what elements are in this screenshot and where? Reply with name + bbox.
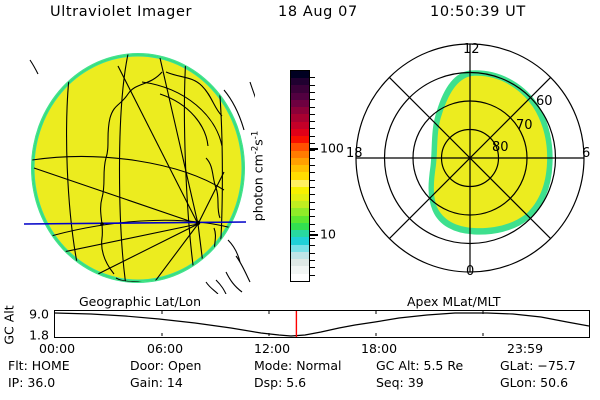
colorbar-minor-tick xyxy=(310,253,315,254)
colorbar-minor-tick xyxy=(310,92,315,93)
colorbar-segment xyxy=(291,136,309,143)
xtick-3: 18:00 xyxy=(361,341,397,356)
status-flight: Flt: HOME xyxy=(8,358,70,373)
globe-overlay-graticule xyxy=(10,42,255,294)
status-row-2: IP: 36.0 Gain: 14 Dsp: 5.6 Seq: 39 GLon:… xyxy=(8,375,600,392)
colorbar-minor-tick xyxy=(310,77,315,78)
colorbar-segment xyxy=(291,172,309,179)
colorbar-minor-tick xyxy=(310,128,315,129)
colorbar-minor-tick xyxy=(310,224,315,225)
xtick-2: 12:00 xyxy=(254,341,290,356)
mlt-label-0: 0 xyxy=(466,264,474,279)
colorbar-minor-tick xyxy=(310,187,315,188)
mlt-label-18: 18 xyxy=(346,146,363,161)
colorbar-major-tick xyxy=(310,148,318,149)
colorbar-segment xyxy=(291,107,309,114)
status-glon: GLon: 50.6 xyxy=(500,375,568,390)
page-title: Ultraviolet Imager xyxy=(50,4,192,20)
status-dsp: Dsp: 5.6 xyxy=(254,375,306,390)
colorbar-segment xyxy=(291,71,309,78)
colorbar-segment xyxy=(291,143,309,150)
colorbar-minor-tick xyxy=(310,99,315,100)
colorbar-ticks xyxy=(310,70,320,282)
colorbar-segment xyxy=(291,151,309,158)
colorbar-segment xyxy=(291,245,309,252)
observation-date: 18 Aug 07 xyxy=(278,4,358,20)
colorbar-minor-tick xyxy=(310,260,315,261)
xtick-0: 00:00 xyxy=(39,341,75,356)
colorbar-minor-tick xyxy=(310,143,315,144)
orbit-x-axis-ticks: 00:00 06:00 12:00 18:00 23:59 xyxy=(55,341,591,357)
colorbar-axis-label: photon cm-2s-1 xyxy=(250,131,265,221)
colorbar-segment xyxy=(291,180,309,187)
colorbar-minor-tick xyxy=(310,194,315,195)
colorbar-segment xyxy=(291,237,309,244)
colorbar-minor-tick xyxy=(310,180,315,181)
status-row-1: Flt: HOME Door: Open Mode: Normal GC Alt… xyxy=(8,358,600,375)
status-mode: Mode: Normal xyxy=(254,358,341,373)
colorbar-minor-tick xyxy=(310,121,315,122)
status-gc-alt: GC Alt: 5.5 Re xyxy=(376,358,463,373)
colorbar-minor-tick xyxy=(310,85,315,86)
status-block: Flt: HOME Door: Open Mode: Normal GC Alt… xyxy=(8,358,600,392)
status-gain: Gain: 14 xyxy=(130,375,183,390)
colorbar-segment xyxy=(291,216,309,223)
colorbar-segment xyxy=(291,208,309,215)
colorbar-segment xyxy=(291,158,309,165)
colorbar-minor-tick xyxy=(310,267,315,268)
colorbar-tick-label: 100 xyxy=(320,141,344,156)
colorbar-segment xyxy=(291,266,309,273)
colorbar-segment xyxy=(291,274,309,281)
uvi-viewer-window: Ultraviolet Imager 18 Aug 07 10:50:39 UT xyxy=(0,0,600,400)
colorbar-major-tick xyxy=(310,234,318,235)
colorbar-minor-tick xyxy=(310,165,315,166)
polar-grid xyxy=(346,42,596,294)
mlat-label-60: 60 xyxy=(536,94,553,109)
mlt-label-12: 12 xyxy=(463,42,480,57)
colorbar-segment xyxy=(291,129,309,136)
colorbar-minor-tick xyxy=(310,209,315,210)
status-door: Door: Open xyxy=(130,358,201,373)
header-bar: Ultraviolet Imager 18 Aug 07 10:50:39 UT xyxy=(0,4,600,26)
colorbar-minor-tick xyxy=(310,202,315,203)
colorbar-minor-tick xyxy=(310,245,315,246)
colorbar-segment xyxy=(291,252,309,259)
colorbar-minor-tick xyxy=(310,136,315,137)
mlat-label-80: 80 xyxy=(492,140,509,155)
status-seq: Seq: 39 xyxy=(376,375,424,390)
colorbar-segment xyxy=(291,201,309,208)
colorbar-segment xyxy=(291,259,309,266)
colorbar: photon cm-2s-1 10010 xyxy=(288,70,354,288)
colorbar-segment xyxy=(291,93,309,100)
colorbar-segment xyxy=(291,230,309,237)
colorbar-segment xyxy=(291,122,309,129)
aurora-oval-region xyxy=(430,72,551,233)
colorbar-minor-tick xyxy=(310,275,315,276)
orbit-altitude-curve xyxy=(55,311,589,337)
colorbar-minor-tick xyxy=(310,216,315,217)
colorbar-minor-tick xyxy=(310,114,315,115)
colorbar-gradient xyxy=(290,70,310,282)
colorbar-minor-tick xyxy=(310,158,315,159)
colorbar-segment xyxy=(291,78,309,85)
orbit-altitude-strip[interactable]: GC Alt 9.0 1.8 Geographic Lat/Lon Apex M… xyxy=(54,310,590,338)
colorbar-segment xyxy=(291,100,309,107)
status-glat: GLat: −75.7 xyxy=(500,358,576,373)
colorbar-segment xyxy=(291,85,309,92)
orbit-ytick-top: 9.0 xyxy=(15,307,49,322)
colorbar-segment xyxy=(291,114,309,121)
observation-time: 10:50:39 UT xyxy=(430,4,526,20)
mlat-label-70: 70 xyxy=(516,118,533,133)
orbit-caption-left: Geographic Lat/Lon xyxy=(79,294,201,309)
colorbar-segment xyxy=(291,223,309,230)
colorbar-minor-tick xyxy=(310,231,315,232)
colorbar-segment xyxy=(291,165,309,172)
colorbar-segment xyxy=(291,194,309,201)
status-ip: IP: 36.0 xyxy=(8,375,55,390)
xtick-1: 06:00 xyxy=(147,341,183,356)
geographic-image-panel[interactable] xyxy=(10,42,255,294)
colorbar-segment xyxy=(291,187,309,194)
colorbar-minor-tick xyxy=(310,107,315,108)
mlt-label-6: 6 xyxy=(582,146,590,161)
colorbar-minor-tick xyxy=(310,238,315,239)
colorbar-minor-tick xyxy=(310,172,315,173)
orbit-caption-right: Apex MLat/MLT xyxy=(407,294,501,309)
apex-polar-panel[interactable]: 12 18 6 0 60 70 80 xyxy=(346,42,596,294)
xtick-4: 23:59 xyxy=(507,341,543,356)
colorbar-minor-tick xyxy=(310,150,315,151)
colorbar-tick-label: 10 xyxy=(320,227,336,242)
